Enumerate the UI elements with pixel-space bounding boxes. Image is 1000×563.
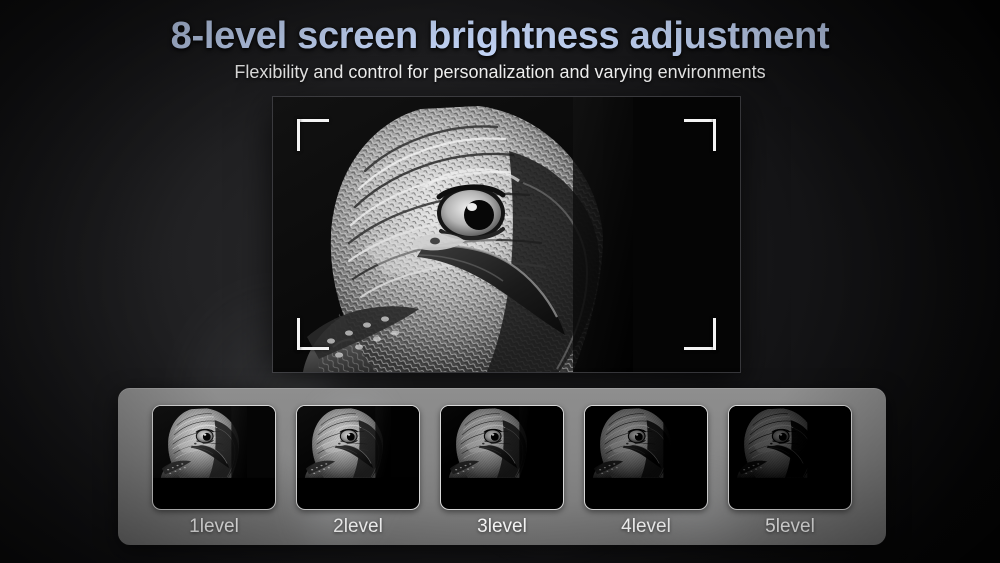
hawk-photo-thumbnail xyxy=(585,406,707,478)
brightness-level-thumbnail[interactable] xyxy=(584,405,708,510)
hawk-photo-thumbnail xyxy=(153,406,275,478)
brightness-level-label: 4level xyxy=(621,516,671,538)
hawk-photo-thumbnail xyxy=(441,406,563,478)
brightness-level-list: 1level xyxy=(118,388,886,545)
brightness-level-item[interactable]: 3level xyxy=(441,405,563,538)
brightness-level-thumbnail[interactable] xyxy=(152,405,276,510)
hero-preview-screen[interactable] xyxy=(273,97,740,372)
brightness-level-label: 3level xyxy=(477,516,527,538)
brightness-level-label: 1level xyxy=(189,516,239,538)
hawk-photo-thumbnail xyxy=(297,406,419,478)
brightness-level-item[interactable]: 2level xyxy=(297,405,419,538)
page-title: 8-level screen brightness adjustment xyxy=(0,15,1000,58)
brightness-level-thumbnail[interactable] xyxy=(728,405,852,510)
brightness-levels-panel: 1level xyxy=(118,388,886,545)
hawk-photo-thumbnail xyxy=(729,406,851,478)
brightness-level-item[interactable]: 5level xyxy=(729,405,851,538)
hawk-photo-full xyxy=(273,97,740,372)
slide-canvas: 8-level screen brightness adjustment Fle… xyxy=(0,0,1000,563)
brightness-level-label: 2level xyxy=(333,516,383,538)
page-subtitle: Flexibility and control for personalizat… xyxy=(0,62,1000,83)
brightness-level-label: 5level xyxy=(765,516,815,538)
brightness-level-item[interactable]: 1level xyxy=(153,405,275,538)
brightness-level-thumbnail[interactable] xyxy=(296,405,420,510)
brightness-level-item[interactable]: 4level xyxy=(585,405,707,538)
brightness-level-thumbnail[interactable] xyxy=(440,405,564,510)
